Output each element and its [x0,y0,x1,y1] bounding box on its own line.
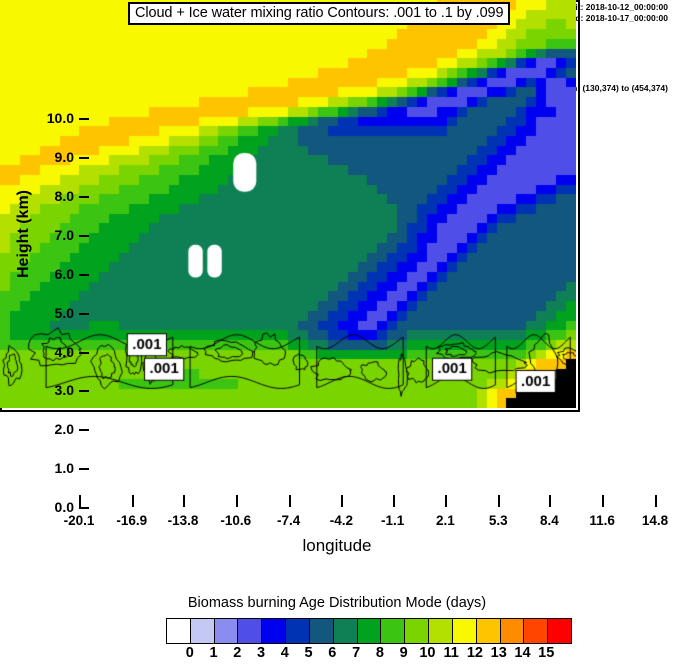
x-tick-label: -1.1 [381,513,404,528]
colorbar-tick-label: 7 [352,645,360,661]
colorbar-tick-label: 9 [400,645,408,661]
y-tick-mark [79,507,89,509]
colorbar-cell[interactable] [381,619,405,643]
colorbar-cell[interactable] [334,619,358,643]
x-tick-mark [549,495,551,507]
y-axis: 0.01.02.03.04.05.06.07.08.09.010.0 [8,0,74,667]
colorbar-tick-label: 4 [281,645,289,661]
colorbar-cell[interactable] [453,619,477,643]
y-tick-mark [79,468,89,470]
colorbar-tick-label: 14 [514,645,530,661]
y-tick-mark [79,196,89,198]
x-tick-label: 5.3 [489,513,508,528]
y-tick-label: 2.0 [20,421,74,437]
x-tick-mark [393,495,395,507]
valid-time-label: Valid: 2018-10-17_00:00:00 [561,13,668,24]
x-tick-label: -16.9 [116,513,147,528]
x-axis-title: longitude [0,536,674,556]
x-tick-mark [498,495,500,507]
colorbar-cell[interactable] [477,619,501,643]
x-tick-label: -10.6 [220,513,251,528]
y-axis-title: Height (km) [15,174,33,294]
colorbar-cell[interactable] [501,619,525,643]
y-tick-mark [79,274,89,276]
colorbar-cell[interactable] [167,619,191,643]
x-tick-mark [183,495,185,507]
y-tick-mark [79,118,89,120]
colorbar-tick-label: 15 [538,645,554,661]
y-tick-label: 9.0 [20,149,74,165]
y-tick-mark [79,390,89,392]
colorbar-tick-label: 0 [186,645,194,661]
colorbar-cell[interactable] [358,619,382,643]
colorbar[interactable] [166,618,572,644]
x-tick-mark [236,495,238,507]
y-tick-label: 10.0 [20,110,74,126]
y-tick-label: 4.0 [20,344,74,360]
colorbar-tick-label: 5 [305,645,313,661]
colorbar-title: Biomass burning Age Distribution Mode (d… [0,595,674,611]
x-tick-mark [289,495,291,507]
x-tick-label: 11.6 [589,513,615,528]
colorbar-tick-label: 13 [491,645,507,661]
y-tick-mark [79,352,89,354]
x-tick-label: -13.8 [168,513,199,528]
colorbar-tick-label: 6 [328,645,336,661]
colorbar-cell[interactable] [405,619,429,643]
x-tick-mark [445,495,447,507]
x-tick-label: 14.8 [642,513,668,528]
run-time-block: Init: 2018-10-12_00:00:00 Valid: 2018-10… [561,2,668,24]
contour-legend-box: Cloud + Ice water mixing ratio Contours:… [128,2,510,25]
colorbar-tick-label: 8 [376,645,384,661]
colorbar-tick-label: 1 [209,645,217,661]
x-tick-mark [341,495,343,507]
colorbar-tick-label: 10 [419,645,435,661]
x-tick-mark [132,495,134,507]
x-tick-label: -4.2 [330,513,353,528]
x-tick-mark [655,495,657,507]
y-tick-label: 3.0 [20,382,74,398]
y-tick-mark [79,157,89,159]
init-time-label: Init: 2018-10-12_00:00:00 [561,2,668,13]
colorbar-cell[interactable] [191,619,215,643]
colorbar-cell[interactable] [286,619,310,643]
y-tick-mark [79,313,89,315]
y-tick-mark [79,429,89,431]
x-tick-label: 8.4 [540,513,559,528]
colorbar-cell[interactable] [215,619,239,643]
colorbar-cell[interactable] [429,619,453,643]
contour-overlay [0,0,576,408]
colorbar-cell[interactable] [548,619,571,643]
x-tick-label: -20.1 [64,513,95,528]
cross-section-plot[interactable]: Cloud + Ice water mixing ratio Contours:… [0,0,580,412]
colorbar-tick-label: 11 [444,645,459,661]
y-tick-label: 5.0 [20,305,74,321]
colorbar-cell[interactable] [262,619,286,643]
y-tick-mark [79,235,89,237]
colorbar-cell[interactable] [524,619,548,643]
colorbar-tick-label: 12 [467,645,483,661]
colorbar-cell[interactable] [238,619,262,643]
colorbar-tick-label: 3 [257,645,265,661]
x-tick-label: 2.1 [436,513,455,528]
x-tick-label: -7.4 [277,513,300,528]
x-tick-mark [79,495,81,507]
x-tick-mark [602,495,604,507]
y-tick-label: 1.0 [20,460,74,476]
colorbar-tick-label: 2 [233,645,241,661]
colorbar-cell[interactable] [310,619,334,643]
